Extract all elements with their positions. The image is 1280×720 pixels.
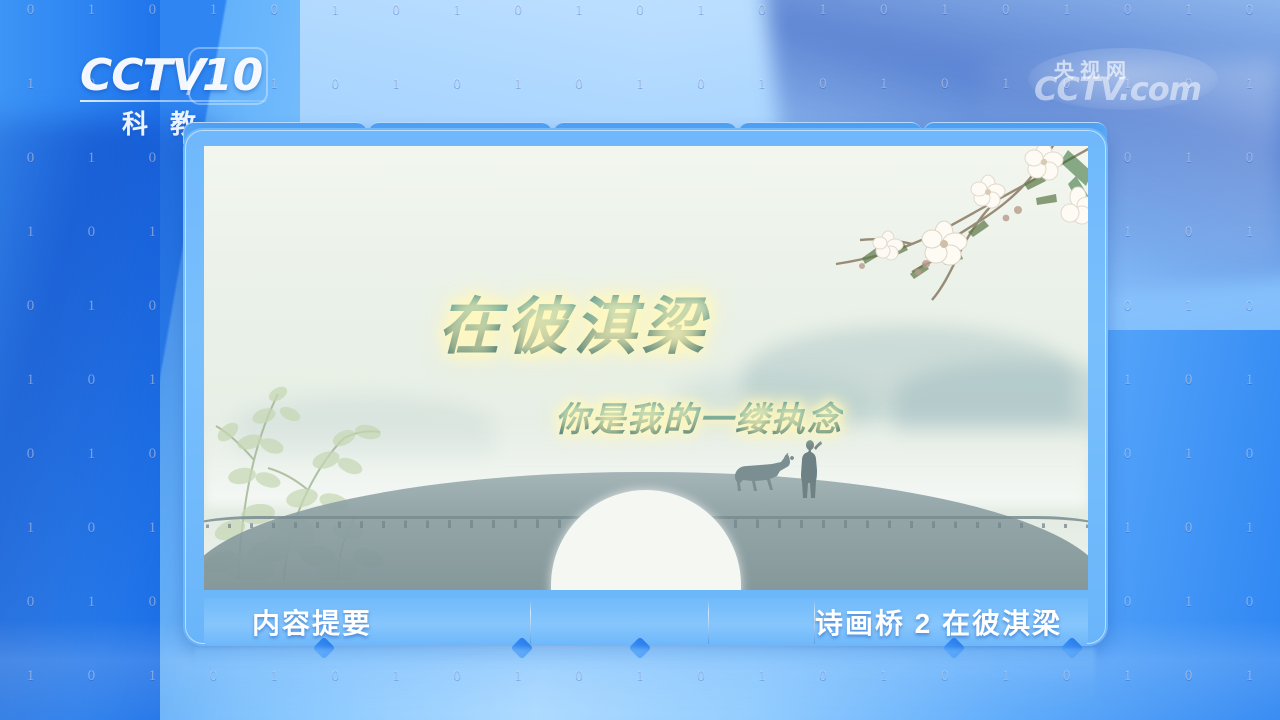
ink-wash-scene: 在彼淇梁 你是我的一缕执念 bbox=[204, 146, 1088, 590]
bottom-bar-mid-cell-2 bbox=[709, 598, 814, 646]
video-panel: 在彼淇梁 你是我的一缕执念 内容提要 诗画桥 2 在彼淇梁 bbox=[183, 128, 1108, 646]
bottom-bar-mid-cell bbox=[531, 598, 710, 646]
program-title-label: 诗画桥 2 在彼淇梁 bbox=[815, 602, 1062, 642]
panel-reflection bbox=[195, 648, 1095, 710]
cctv-10-logo: CCTV / 10 科教 bbox=[80, 50, 260, 124]
video-subtitle: 你是我的一缕执念 bbox=[555, 392, 843, 441]
video-screen[interactable]: 在彼淇梁 你是我的一缕执念 bbox=[204, 146, 1088, 590]
logo-slash: / bbox=[186, 52, 200, 101]
video-title: 在彼淇梁 bbox=[438, 276, 710, 366]
cctv-com-watermark: 央视网 CCTV.com bbox=[1028, 48, 1218, 110]
stone-bridge bbox=[204, 460, 1088, 590]
content-summary-label: 内容提要 bbox=[252, 602, 372, 642]
tv-broadcast-screen: 0101010101010101010101010101010101010101… bbox=[0, 0, 1280, 720]
bottom-bar-left-cell: 内容提要 bbox=[204, 598, 531, 646]
video-panel-wrapper: 在彼淇梁 你是我的一缕执念 内容提要 诗画桥 2 在彼淇梁 bbox=[183, 122, 1108, 646]
blossom-branch-icon bbox=[792, 146, 1088, 330]
watermark-english-text: CCTV.com bbox=[1034, 70, 1201, 108]
person-silhouette-icon bbox=[800, 440, 822, 498]
logo-underline bbox=[80, 100, 266, 102]
horse-silhouette-icon bbox=[729, 450, 801, 494]
logo-channel-number: 10 bbox=[202, 50, 263, 101]
